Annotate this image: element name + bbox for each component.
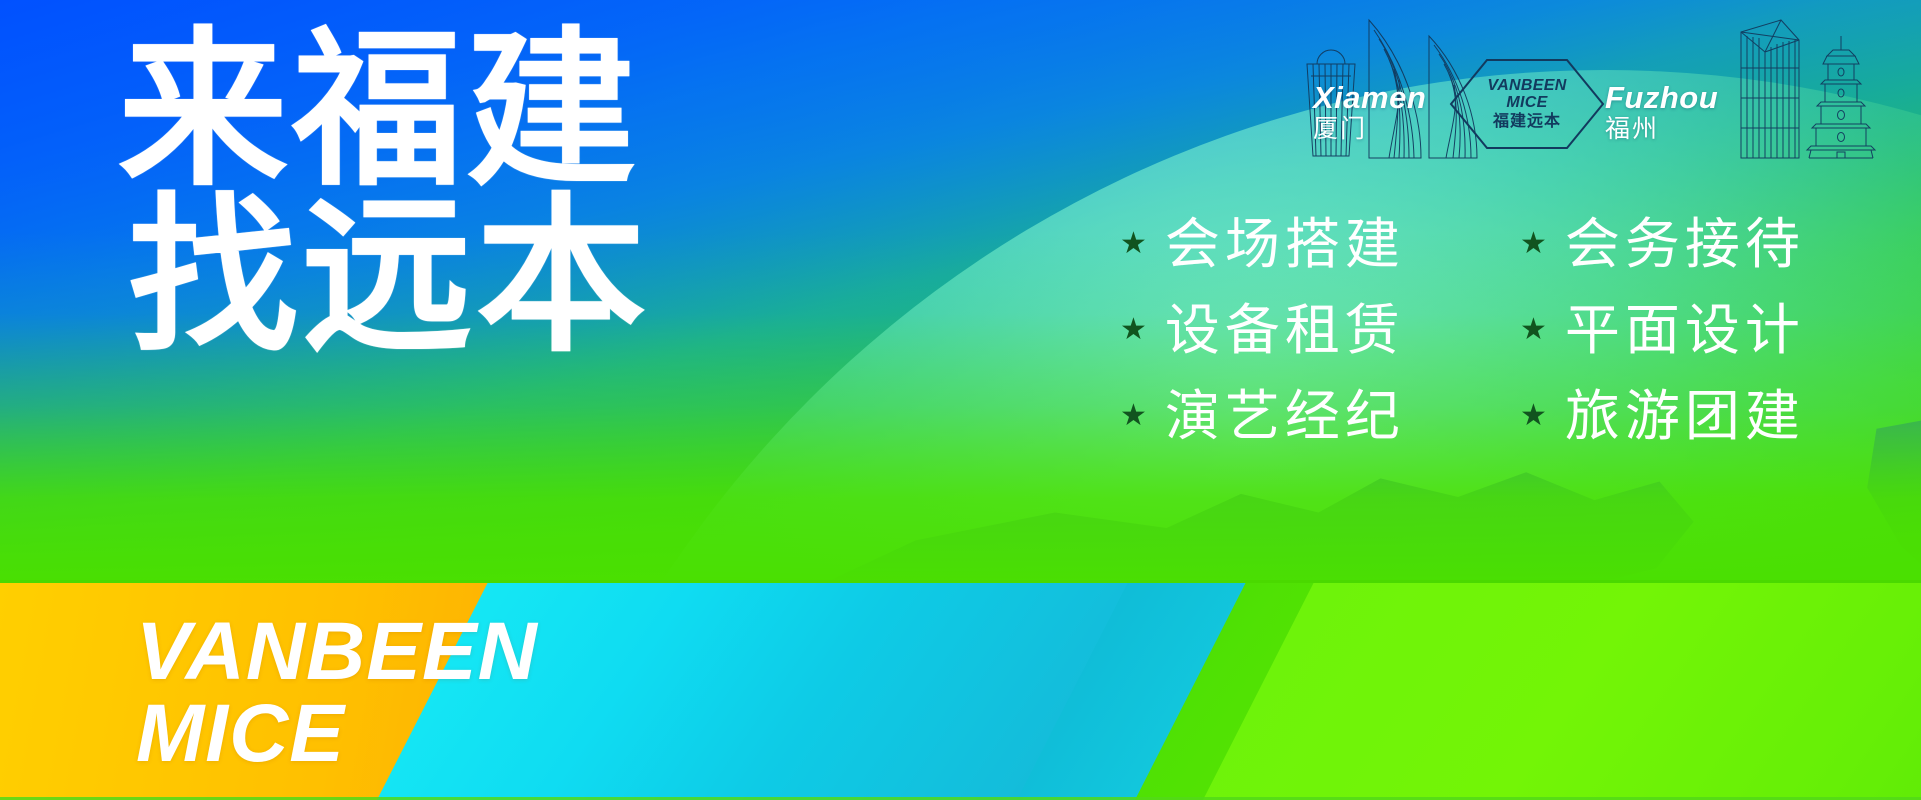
list-item: ★ 设备租赁 [1120,291,1520,369]
promotional-banner: 来福建 找远本 [0,0,1921,800]
brand-line-1: VANBEEN [136,614,538,690]
list-item: ★ 会务接待 [1520,205,1920,283]
star-icon: ★ [1120,315,1147,345]
city-name-en: Xiamen [1313,82,1426,113]
services-list: ★ 会场搭建 ★ 会务接待 ★ 设备租赁 ★ 平面设计 ★ 演艺经纪 ★ 旅游团… [1120,205,1920,455]
banner-main-area: 来福建 找远本 [0,0,1921,580]
city-name-cn: 厦门 [1313,117,1426,142]
brand-wordmark: VANBEEN MICE [136,614,538,773]
brand-line-2: MICE [136,696,538,772]
vanbeen-mice-logo: VANBEEN MICE 福建远本 [1447,54,1607,154]
service-label: 会场搭建 [1165,217,1405,272]
green-diagonal-slab-2 [1196,580,1921,800]
list-item: ★ 旅游团建 [1520,377,1920,455]
city-name-cn: 福州 [1605,117,1718,142]
star-icon: ★ [1120,401,1147,431]
service-label: 旅游团建 [1565,389,1805,444]
city-name-en: Fuzhou [1605,82,1718,113]
city-landmark-strip: Xiamen 厦门 VANBEEN MICE 福建远本 Fuzhou 福州 [1295,6,1915,176]
logo-line-2: MICE [1506,95,1547,111]
star-icon: ★ [1520,315,1547,345]
logo-text-block: VANBEEN MICE 福建远本 [1447,54,1607,154]
city-label-fuzhou: Fuzhou 福州 [1605,82,1718,142]
star-icon: ★ [1520,401,1547,431]
logo-line-3: 福建远本 [1493,114,1561,130]
list-item: ★ 平面设计 [1520,291,1920,369]
headline-line-2: 找远本 [128,194,650,360]
star-icon: ★ [1520,229,1547,259]
page-title: 来福建 找远本 [118,28,650,360]
service-label: 设备租赁 [1165,303,1405,358]
service-label: 演艺经纪 [1165,389,1405,444]
city-label-xiamen: Xiamen 厦门 [1313,82,1426,142]
list-item: ★ 演艺经纪 [1120,377,1520,455]
service-label: 平面设计 [1565,303,1805,358]
banner-bottom-bar: VANBEEN MICE [0,580,1921,800]
headline-line-1: 来福建 [118,28,650,194]
bottom-bar-top-rule [0,580,1921,583]
star-icon: ★ [1120,229,1147,259]
service-label: 会务接待 [1565,217,1805,272]
logo-line-1: VANBEEN [1487,78,1566,94]
list-item: ★ 会场搭建 [1120,205,1520,283]
